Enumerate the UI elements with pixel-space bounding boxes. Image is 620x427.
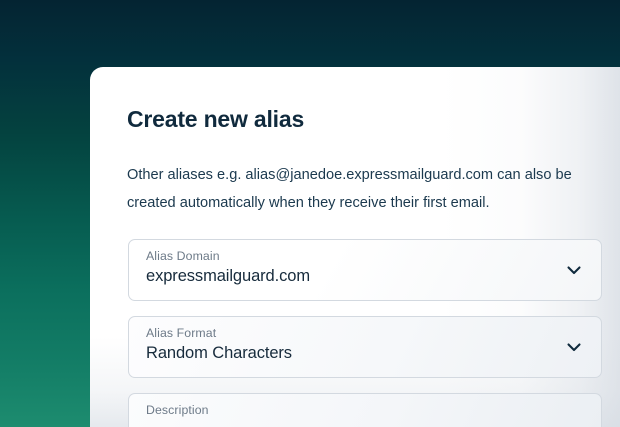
chevron-down-icon[interactable] <box>563 336 585 358</box>
field-label-alias-domain: Alias Domain <box>146 249 220 263</box>
field-alias-domain[interactable]: Alias Domain expressmailguard.com <box>128 239 602 301</box>
field-label-description: Description <box>146 403 209 417</box>
app-screen: Create new alias Other aliases e.g. alia… <box>0 0 620 427</box>
field-description[interactable]: Description <box>128 393 602 427</box>
dialog-description: Other aliases e.g. alias@janedoe.express… <box>127 161 582 217</box>
create-alias-dialog: Create new alias Other aliases e.g. alia… <box>90 67 620 427</box>
form-fields: Alias Domain expressmailguard.com Alias … <box>128 239 602 427</box>
field-value-alias-domain: expressmailguard.com <box>146 267 310 286</box>
field-value-alias-format: Random Characters <box>146 344 292 363</box>
chevron-down-icon[interactable] <box>563 259 585 281</box>
field-label-alias-format: Alias Format <box>146 326 216 340</box>
field-alias-format[interactable]: Alias Format Random Characters <box>128 316 602 378</box>
page-title: Create new alias <box>127 106 304 133</box>
